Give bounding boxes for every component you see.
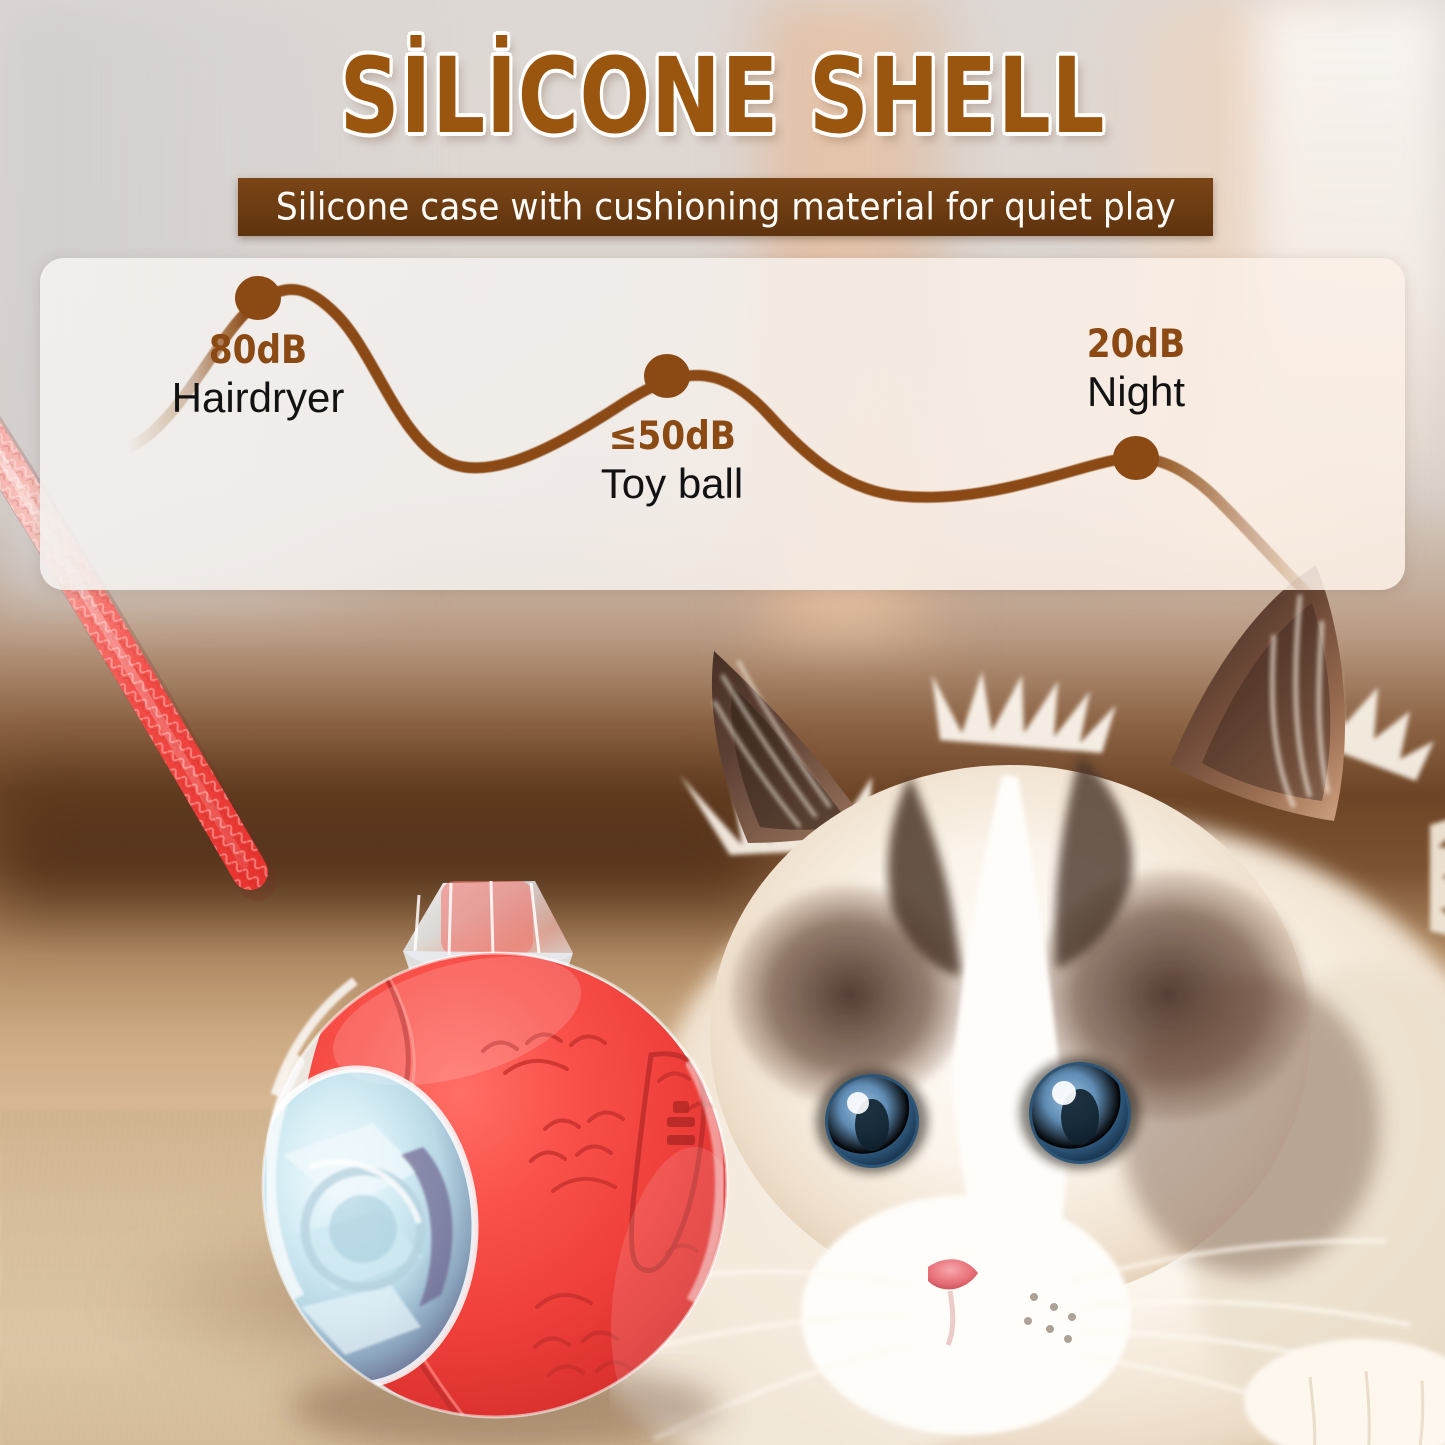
wave-label-hairdryer: 80dB Hairdryer <box>148 330 368 422</box>
hairdryer-label: Hairdryer <box>148 374 368 422</box>
wave-label-toyball: ≤50dB Toy ball <box>562 416 782 508</box>
toyball-db-value: ≤50dB <box>562 416 782 458</box>
cat-eye-left <box>816 1069 928 1173</box>
subtitle-text: Silicone case with cushioning material f… <box>238 186 1213 229</box>
night-db-value: 20dB <box>1026 324 1246 366</box>
hairdryer-db-value: 80dB <box>148 330 368 372</box>
subtitle-banner: Silicone case with cushioning material f… <box>238 178 1213 236</box>
cat-toy-ball <box>205 855 785 1445</box>
wave-label-night: 20dB Night <box>1026 324 1246 416</box>
cat-eye-right <box>1020 1057 1140 1169</box>
toyball-label: Toy ball <box>562 460 782 508</box>
night-label: Night <box>1026 368 1246 416</box>
page-title: SİLİCONE SHELL <box>145 44 1301 148</box>
product-marketing-image: SİLİCONE SHELL Silicone case with cushio… <box>0 0 1445 1445</box>
